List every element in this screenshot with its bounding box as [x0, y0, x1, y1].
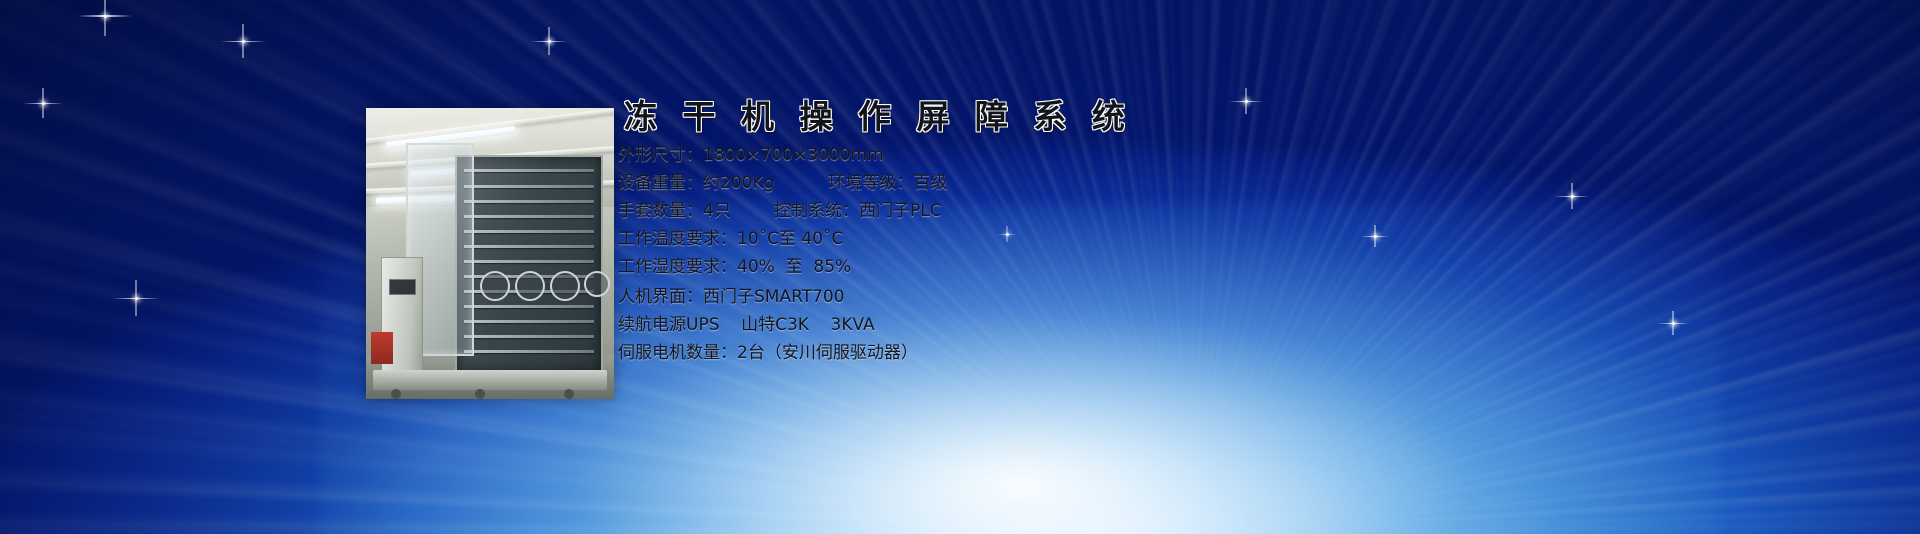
photo-glove-port	[584, 271, 610, 297]
spec-line-ups: 续航电源UPS 山特C3K 3KVA	[618, 317, 1318, 334]
photo-shelf	[464, 169, 593, 172]
photo-shelf	[464, 215, 593, 218]
spec-line-hmi: 人机界面：西门子SMART700	[618, 289, 1318, 306]
photo-glove-port	[515, 271, 545, 301]
photo-shelf	[464, 320, 593, 323]
photo-shelf	[464, 305, 593, 308]
photo-glove-port	[480, 271, 510, 301]
photo-shelf	[464, 230, 593, 233]
spec-line-dimensions: 外形尺寸：1800×700×3000mm	[618, 147, 1318, 164]
spec-line-temperature: 工作温度要求：10˚C至 40˚C	[618, 231, 1318, 248]
photo-drying-chamber	[455, 155, 603, 374]
spec-list: 外形尺寸：1800×700×3000mm 设备重量：约200Kg 环境等级：百级…	[618, 147, 1318, 362]
photo-shelf	[464, 200, 593, 203]
photo-shelf	[464, 335, 593, 338]
photo-glove-port	[550, 271, 580, 301]
photo-control-panel	[389, 279, 416, 295]
photo-shelf	[464, 185, 593, 188]
photo-base-frame	[373, 370, 606, 390]
photo-shelf	[464, 350, 593, 353]
spec-line-weight-class: 设备重量：约200Kg 环境等级：百级	[618, 175, 1318, 192]
photo-shelf	[464, 260, 593, 263]
spec-line-gloves-plc: 手套数量：4只 控制系统：西门子PLC	[618, 203, 1318, 220]
photo-red-unit	[371, 332, 393, 364]
product-photo	[366, 108, 614, 399]
spec-line-servo-motor: 伺服电机数量：2台（安川伺服驱动器）	[618, 345, 1318, 362]
spec-line-humidity: 工作湿度要求：40% 至 85%	[618, 259, 1318, 276]
product-banner: 冻 干 机 操 作 屏 障 系 统 外形尺寸：1800×700×3000mm 设…	[0, 0, 1920, 534]
banner-content: 冻 干 机 操 作 屏 障 系 统 外形尺寸：1800×700×3000mm 设…	[618, 100, 1318, 373]
photo-caster	[391, 389, 401, 399]
page-title: 冻 干 机 操 作 屏 障 系 统	[624, 100, 1318, 133]
photo-shelf	[464, 245, 593, 248]
